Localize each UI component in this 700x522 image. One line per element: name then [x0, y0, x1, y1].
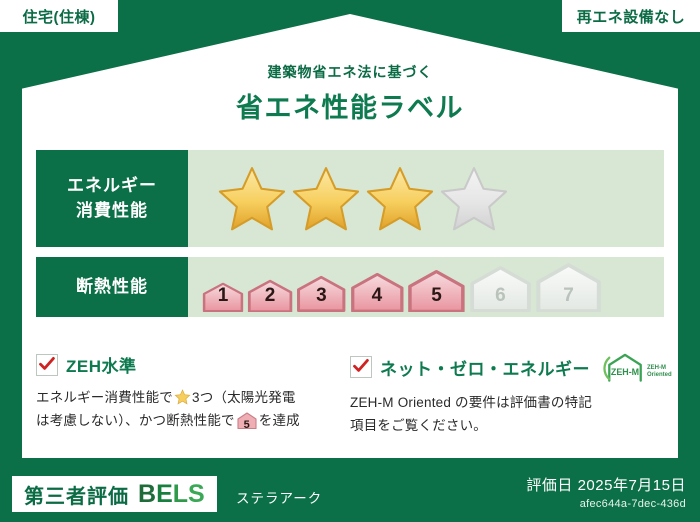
evaluation-id: afec644a-7dec-436d [526, 498, 686, 510]
insulation-level-number: 2 [247, 285, 293, 307]
bels-letter-l: L [173, 480, 188, 509]
insulation-level-number: 3 [296, 285, 346, 307]
title-main: 省エネ性能ラベル [0, 86, 700, 125]
footer-eval-info: 評価日 2025年7月15日 afec644a-7dec-436d [526, 474, 686, 510]
criterion-zeh-text-part2: は考慮しない）、かつ断熱性能で [36, 413, 235, 428]
zeh-m-logo-sub2: Oriented [647, 372, 672, 378]
insulation-house-empty: 6 [469, 265, 532, 312]
row-insulation-label-line1: 断熱性能 [76, 275, 148, 300]
zeh-m-oriented-logo: ZEH-M ZEH-M Oriented [602, 352, 672, 382]
insulation-level-number: 6 [469, 285, 532, 307]
row-insulation-body: 1234567 [188, 257, 664, 317]
performance-rows: エネルギー 消費性能 断熱性能 1234567 [36, 150, 664, 327]
insulation-level-scale: 1234567 [202, 262, 602, 312]
criterion-zeh-text-stars: 3つ（太陽光発電 [192, 390, 296, 405]
evaluation-date-label: 評価日 [526, 477, 573, 494]
criterion-zeh-text-part3: を達成 [259, 413, 300, 428]
footer-bar: 第三者評価 BELS ステラアーク 評価日 2025年7月15日 afec644… [0, 466, 700, 522]
star-filled-icon [364, 164, 436, 234]
insulation-house-filled: 2 [247, 279, 293, 312]
badge-building-type: 住宅(住棟) [0, 0, 118, 32]
insulation-house-filled: 5 [407, 269, 466, 313]
page-title: 建築物省エネ法に基づく 省エネ性能ラベル [0, 62, 700, 125]
criterion-nze-title: ネット・ゼロ・エネルギー [380, 355, 590, 380]
criterion-net-zero-energy: ネット・ゼロ・エネルギー ZEH-M ZEH-M Oriented ZEH-M … [350, 352, 664, 437]
insulation-level-number: 1 [202, 285, 244, 307]
bels-third-party-label: 第三者評価 [24, 480, 129, 509]
insulation-level-number: 7 [535, 285, 602, 307]
row-energy-label-line2: 消費性能 [76, 199, 148, 224]
checkbox-zeh[interactable] [36, 354, 58, 376]
check-icon [38, 355, 56, 373]
bels-letter-s: S [188, 480, 205, 509]
criterion-nze-text-part1: ZEH-M Oriented の要件は評価書の特記 [350, 395, 592, 410]
row-energy-label-line1: エネルギー [67, 174, 157, 199]
svg-text:ZEH-M: ZEH-M [611, 367, 639, 377]
row-insulation-performance: 断熱性能 1234567 [36, 257, 664, 317]
evaluation-date-value: 2025年7月15日 [578, 477, 686, 494]
inline-house-icon: 5 [237, 412, 257, 436]
check-icon [352, 357, 370, 375]
criterion-nze-head: ネット・ゼロ・エネルギー ZEH-M ZEH-M Oriented [350, 352, 648, 382]
row-insulation-label: 断熱性能 [36, 257, 188, 317]
criterion-zeh-head: ZEH水準 [36, 352, 334, 377]
bels-letter-e: E [156, 480, 173, 509]
star-rating [216, 164, 510, 234]
bels-letter-b: B [138, 480, 156, 509]
criterion-zeh: ZEH水準 エネルギー消費性能で3つ（太陽光発電 は考慮しない）、かつ断熱性能で… [36, 352, 350, 437]
criterion-nze-text: ZEH-M Oriented の要件は評価書の特記 項目をご覧ください。 [350, 391, 648, 437]
title-subtitle: 建築物省エネ法に基づく [0, 62, 700, 82]
bels-logo-plate: 第三者評価 BELS [12, 476, 217, 512]
star-filled-icon [216, 164, 288, 234]
row-energy-performance: エネルギー 消費性能 [36, 150, 664, 247]
inline-star-icon [174, 389, 191, 405]
bels-wordmark: BELS [138, 480, 205, 509]
bels-energy-label: 住宅(住棟) 再エネ設備なし 建築物省エネ法に基づく 省エネ性能ラベル エネルギ… [0, 0, 700, 522]
checkbox-net-zero-energy[interactable] [350, 356, 372, 378]
criterion-zeh-text-part1: エネルギー消費性能で [36, 390, 173, 405]
badge-renewable-energy: 再エネ設備なし [562, 0, 700, 32]
criterion-nze-text-part2: 項目をご覧ください。 [350, 418, 487, 433]
row-energy-label: エネルギー 消費性能 [36, 150, 188, 247]
row-energy-body [188, 150, 664, 247]
insulation-level-number: 4 [350, 285, 405, 307]
star-filled-icon [290, 164, 362, 234]
criterion-zeh-text: エネルギー消費性能で3つ（太陽光発電 は考慮しない）、かつ断熱性能で5を達成 [36, 386, 334, 436]
insulation-house-empty: 7 [535, 262, 602, 312]
zeh-m-house-icon: ZEH-M [602, 352, 648, 382]
insulation-house-filled: 4 [350, 272, 405, 312]
criterion-zeh-title: ZEH水準 [66, 352, 137, 377]
inline-house-number: 5 [237, 416, 257, 435]
star-empty-icon [438, 164, 510, 234]
evaluation-date: 評価日 2025年7月15日 [526, 474, 686, 495]
criteria-section: ZEH水準 エネルギー消費性能で3つ（太陽光発電 は考慮しない）、かつ断熱性能で… [36, 352, 664, 437]
insulation-level-number: 5 [407, 285, 466, 307]
builder-name: ステラアーク [236, 487, 322, 507]
insulation-house-filled: 1 [202, 282, 244, 312]
insulation-house-filled: 3 [296, 275, 346, 312]
